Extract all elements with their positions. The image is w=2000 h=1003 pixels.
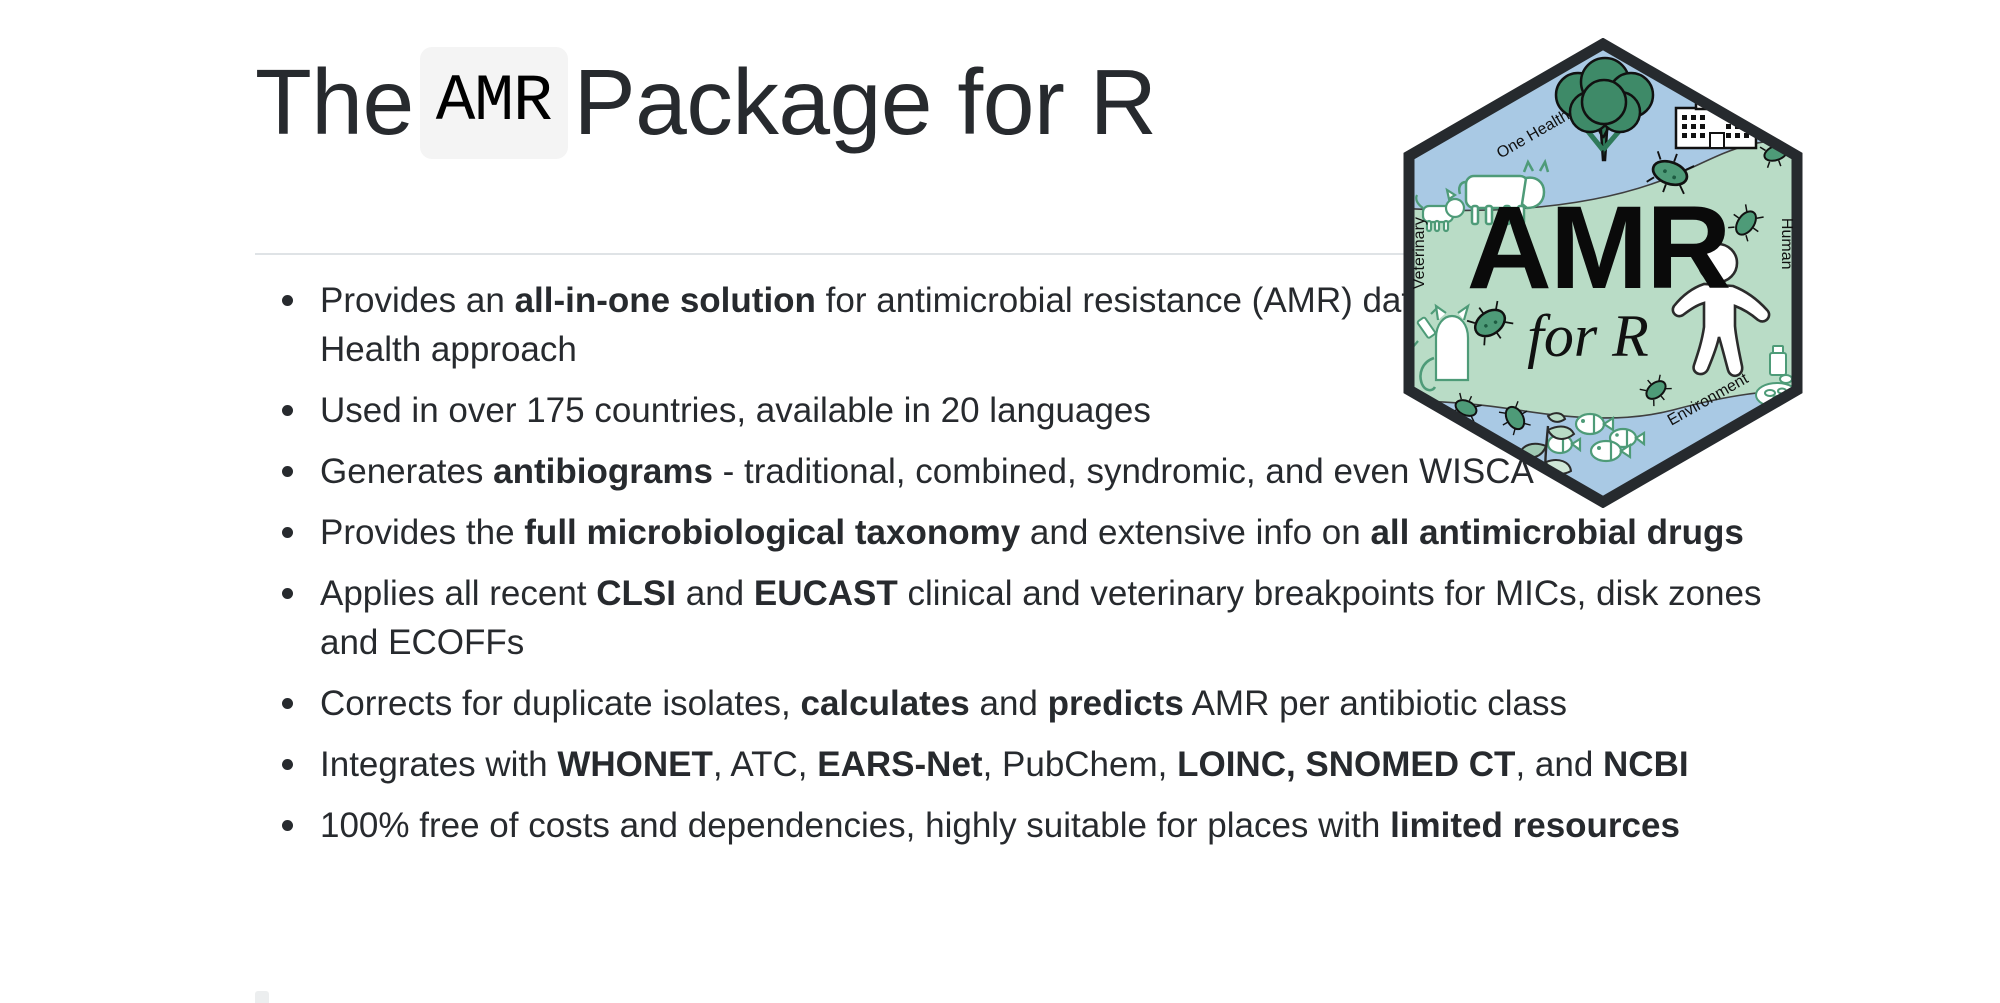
title-code-amr: AMR (420, 47, 568, 159)
slide: The AMR Package for R Provides an all-in… (0, 0, 2000, 1000)
list-item-text: and (676, 574, 754, 613)
list-item-text: and extensive info on (1020, 513, 1370, 552)
list-item-text: Used in over 175 countries, available in… (320, 391, 1151, 430)
list-item-text: Provides an (320, 281, 515, 320)
list-item-text: Applies all recent (320, 574, 596, 613)
list-item-text: 100% free of costs and dependencies, hig… (320, 806, 1390, 845)
list-item-emphasis: antibiograms (493, 452, 713, 491)
list-item-text: Integrates with (320, 745, 557, 784)
bottom-code-fragment (255, 991, 269, 1003)
list-item-emphasis: EARS-Net (817, 745, 982, 784)
list-item-emphasis: all-in-one solution (515, 281, 816, 320)
list-item-text: , PubChem, (983, 745, 1178, 784)
list-item-text: Provides the (320, 513, 524, 552)
list-item-emphasis: full microbiological taxonomy (524, 513, 1020, 552)
list-item-emphasis: LOINC, SNOMED CT (1177, 745, 1515, 784)
list-item: Applies all recent CLSI and EUCAST clini… (255, 569, 1815, 667)
list-item-emphasis: CLSI (596, 574, 676, 613)
title-suffix: Package for R (574, 54, 1157, 152)
list-item-text: AMR per antibiotic class (1184, 684, 1567, 723)
list-item-emphasis: limited resources (1390, 806, 1680, 845)
list-item-text: , ATC, (713, 745, 817, 784)
title-text: The AMR Package for R (255, 47, 1156, 159)
title-prefix: The (255, 54, 414, 152)
page-title: The AMR Package for R (255, 28, 1555, 178)
hex-scene: AMR for R (1398, 38, 1808, 508)
list-item-emphasis: WHONET (557, 745, 713, 784)
list-item-text: and (970, 684, 1048, 723)
logo-label-veterinary-text: Veterinary (1411, 217, 1428, 289)
logo-label-human-text: Human (1778, 218, 1795, 270)
list-item-text: , and (1515, 745, 1603, 784)
logo-forr-text: for R (1527, 303, 1649, 369)
list-item-emphasis: EUCAST (754, 574, 898, 613)
list-item-emphasis: NCBI (1603, 745, 1689, 784)
logo-label-human: Human (1778, 218, 1795, 270)
logo-label-veterinary: Veterinary (1411, 217, 1428, 289)
list-item-text: Corrects for duplicate isolates, (320, 684, 800, 723)
logo-amr-text: AMR (1467, 182, 1730, 314)
list-item-text: Generates (320, 452, 493, 491)
list-item-emphasis: calculates (800, 684, 969, 723)
list-item: 100% free of costs and dependencies, hig… (255, 801, 1815, 850)
list-item: Provides the full microbiological taxono… (255, 508, 1815, 557)
list-item-emphasis: all antimicrobial drugs (1370, 513, 1743, 552)
amr-hex-logo: AMR for R One Health Veterinary Human En… (1398, 38, 1808, 508)
list-item-emphasis: predicts (1048, 684, 1184, 723)
list-item: Integrates with WHONET, ATC, EARS-Net, P… (255, 740, 1815, 789)
list-item: Corrects for duplicate isolates, calcula… (255, 679, 1815, 728)
